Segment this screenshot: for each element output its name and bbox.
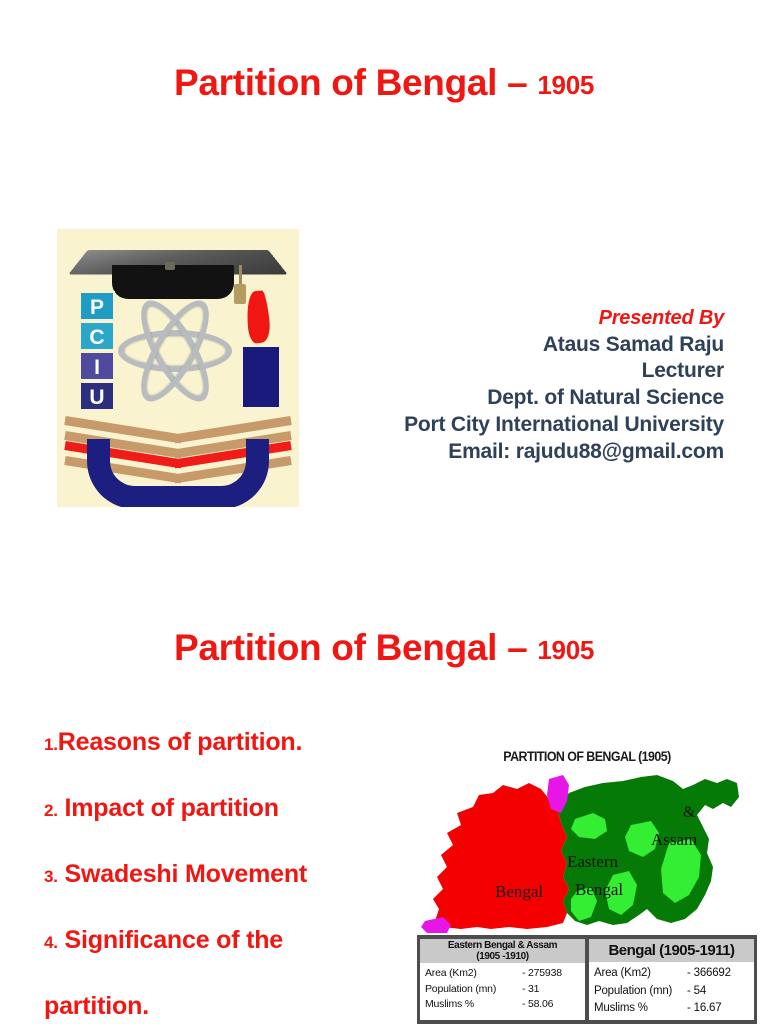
presenter-designation: Lecturer	[404, 358, 724, 385]
table-row: Muslims % - 16.67	[594, 1000, 749, 1018]
presenter-institution: Port City International University	[404, 412, 724, 439]
list-item-label: Significance of the	[58, 926, 283, 954]
slide1-title-year: 1905	[537, 70, 594, 100]
row-label: Area (Km2)	[594, 965, 687, 983]
presenter-email: Email: rajudu88@gmail.com	[404, 439, 724, 466]
row-label: Muslims %	[594, 1000, 687, 1018]
logo-letter-c: C	[79, 321, 115, 351]
table-bengal: Bengal (1905-1911) Area (Km2) - 366692 P…	[589, 939, 754, 1020]
table-row: Muslims % - 58.06	[425, 997, 580, 1013]
logo-u-shape	[87, 439, 269, 507]
university-logo: P C I U	[57, 229, 299, 507]
atom-icon	[115, 291, 235, 411]
row-label: Muslims %	[425, 997, 522, 1013]
slide2-title-text: Partition of Bengal –	[174, 627, 537, 668]
list-item-number: 1.	[44, 735, 58, 754]
slide-title: Partition of Bengal – 1905 P C I U	[0, 0, 768, 600]
table-title-line1: Eastern Bengal & Assam	[420, 941, 585, 952]
row-value: - 366692	[687, 965, 749, 983]
logo-letter-i: I	[79, 351, 115, 381]
slide-contents: Partition of Bengal – 1905 1.Reasons of …	[0, 600, 768, 1024]
table-header: Bengal (1905-1911)	[589, 939, 754, 962]
candle-icon	[243, 347, 279, 407]
slide1-title-text: Partition of Bengal –	[174, 62, 537, 103]
table-row: Population (mn) - 31	[425, 982, 580, 998]
row-value: - 54	[687, 983, 749, 1001]
map-title: PARTITION OF BENGAL (1905)	[431, 749, 744, 764]
row-value: - 275938	[522, 966, 580, 982]
logo-letters: P C I U	[79, 291, 115, 411]
list-item-number: 4.	[44, 933, 58, 952]
map-label-eastern: Eastern	[567, 852, 618, 871]
list-item-label: partition.	[44, 992, 149, 1020]
bengal-region	[433, 783, 569, 929]
slide2-title: Partition of Bengal – 1905	[0, 627, 768, 669]
list-item-number: 2.	[44, 801, 58, 820]
presentation-page: Partition of Bengal – 1905 P C I U	[0, 0, 768, 1024]
row-label: Population (mn)	[594, 983, 687, 1001]
table-header: Eastern Bengal & Assam (1905 -1910)	[420, 939, 585, 963]
list-item-number: 3.	[44, 867, 58, 886]
map-label-assam: Assam	[651, 830, 697, 849]
map-label-bengal-2: Bengal	[575, 880, 623, 899]
presenter-department: Dept. of Natural Science	[404, 385, 724, 412]
list-item: 4. Significance of the	[44, 926, 424, 955]
tassel-icon	[234, 284, 246, 304]
table-title-line1: Bengal (1905-1911)	[589, 943, 754, 959]
slide2-title-year: 1905	[537, 635, 594, 665]
map-label-bengal: Bengal	[495, 882, 543, 901]
row-value: - 31	[522, 982, 580, 998]
map-graphic: Bengal Eastern Bengal & Assam	[417, 763, 757, 943]
presenter-block: Presented By Ataus Samad Raju Lecturer D…	[404, 306, 724, 466]
presenter-name: Ataus Samad Raju	[404, 332, 724, 359]
list-item: 1.Reasons of partition.	[44, 728, 424, 757]
contents-list: 1.Reasons of partition. 2. Impact of par…	[44, 728, 424, 1024]
flame-icon	[244, 290, 271, 344]
list-item: 2. Impact of partition	[44, 794, 424, 823]
list-item-label: Impact of partition	[58, 794, 279, 822]
map-data-tables: Eastern Bengal & Assam (1905 -1910) Area…	[417, 935, 757, 1024]
row-value: - 58.06	[522, 997, 580, 1013]
table-row: Population (mn) - 54	[594, 983, 749, 1001]
row-label: Population (mn)	[425, 982, 522, 998]
presented-by-heading: Presented By	[404, 306, 724, 332]
logo-letter-p: P	[79, 291, 115, 321]
row-label: Area (Km2)	[425, 966, 522, 982]
table-row: Area (Km2) - 366692	[594, 965, 749, 983]
partition-map-figure: PARTITION OF BENGAL (1905) Bengal Easter…	[417, 747, 757, 1024]
table-title-line2: (1905 -1910)	[420, 952, 585, 963]
list-item: partition.	[44, 992, 424, 1021]
map-label-ampersand: &	[683, 804, 696, 821]
list-item: 3. Swadeshi Movement	[44, 860, 424, 889]
graduation-cap-button	[165, 262, 175, 270]
slide1-title: Partition of Bengal – 1905	[0, 62, 768, 104]
list-item-label: Reasons of partition.	[58, 728, 302, 756]
table-eastern-bengal-assam: Eastern Bengal & Assam (1905 -1910) Area…	[420, 939, 585, 1020]
list-item-label: Swadeshi Movement	[58, 860, 307, 888]
row-value: - 16.67	[687, 1000, 749, 1018]
table-row: Area (Km2) - 275938	[425, 966, 580, 982]
